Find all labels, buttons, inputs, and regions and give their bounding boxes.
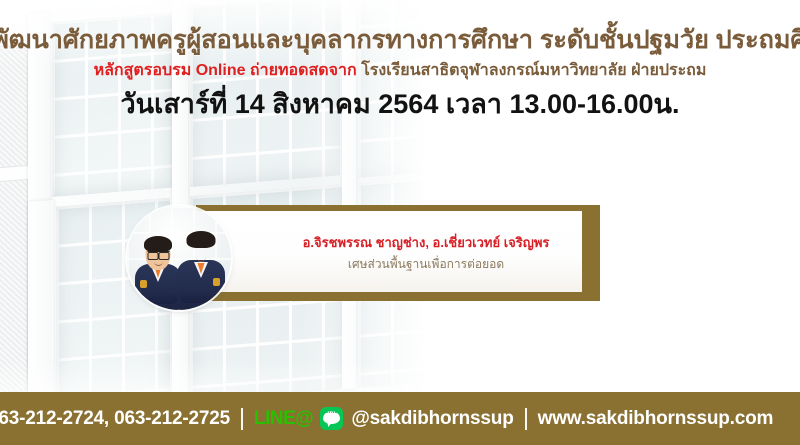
subtitle-course-type: หลักสูตรอบรม Online ถ่ายทอดสดจาก [94, 62, 357, 79]
poster-title: พัฒนาศักยภาพครูผู้สอนและบุคลากรทางการศึก… [0, 26, 800, 55]
left-arms [138, 291, 178, 304]
website-url[interactable]: www.sakdibhornssup.com [538, 408, 774, 430]
left-smile [154, 261, 163, 266]
headline-block: พัฒนาศักยภาพครูผู้สอนและบุคลากรทางการศึก… [0, 26, 800, 120]
speaker-right-figure [177, 230, 225, 310]
right-smile [197, 257, 206, 262]
speakers-photo [127, 206, 231, 310]
poster-subtitle: หลักสูตรอบรม Online ถ่ายทอดสดจาก โรงเรีย… [0, 62, 800, 80]
line-icon[interactable]: LINE [320, 407, 343, 430]
phone-numbers[interactable]: 063-212-2724, 063-212-2725 [0, 408, 230, 430]
line-at-label: LINE@ [254, 408, 313, 430]
poster-datetime: วันเสาร์ที่ 14 สิงหาคม 2564 เวลา 13.00-1… [0, 90, 800, 120]
eyeglasses-icon [147, 251, 169, 259]
left-badge-icon [140, 280, 147, 288]
speaker-left-figure [135, 236, 181, 310]
right-hair [187, 231, 216, 248]
left-hair [144, 236, 172, 252]
subtitle-venue: โรงเรียนสาธิตจุฬาลงกรณ์มหาวิทยาลัย ฝ่ายป… [361, 62, 706, 79]
contact-bar: 063-212-2724, 063-212-2725 LINE@ LINE @s… [0, 392, 800, 445]
line-bubble-text: LINE [320, 410, 343, 416]
promotional-poster: พัฒนาศักยภาพครูผู้สอนและบุคลากรทางการศึก… [0, 0, 800, 445]
contact-bar-row: 063-212-2724, 063-212-2725 LINE@ LINE @s… [0, 407, 773, 430]
speaker-card [196, 205, 600, 301]
right-badge-icon [213, 278, 220, 286]
bar-divider [525, 408, 527, 430]
speaker-card-inner [202, 211, 582, 292]
bar-divider [241, 408, 243, 430]
line-id[interactable]: @sakdibhornssup [351, 408, 513, 430]
right-arms [180, 290, 222, 303]
